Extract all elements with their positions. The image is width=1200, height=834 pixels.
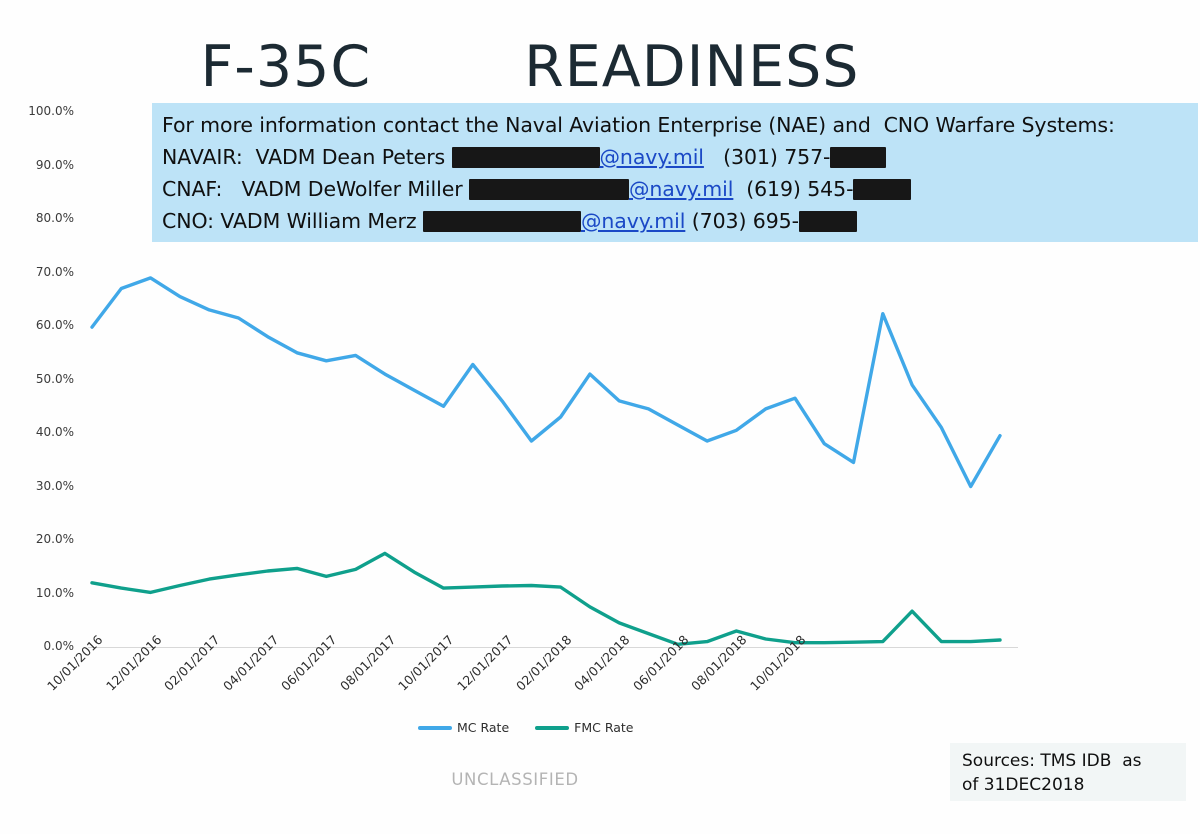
y-axis-tick-label: 0.0% bbox=[12, 639, 74, 653]
slide-canvas: F-35C READINESS For more information con… bbox=[0, 0, 1200, 834]
y-axis-tick-label: 70.0% bbox=[12, 265, 74, 279]
chart-legend: MC Rate FMC Rate bbox=[418, 720, 634, 735]
x-axis-tick-label: 04/01/2018 bbox=[571, 632, 633, 694]
y-axis-tick-label: 80.0% bbox=[12, 211, 74, 225]
x-axis-tick-label: 06/01/2018 bbox=[630, 632, 692, 694]
x-axis-tick-label: 02/01/2018 bbox=[513, 632, 575, 694]
x-axis-tick-label: 10/01/2017 bbox=[395, 632, 457, 694]
legend-label-mc-rate: MC Rate bbox=[457, 720, 509, 735]
y-axis-tick-label: 30.0% bbox=[12, 479, 74, 493]
y-axis-tick-label: 50.0% bbox=[12, 372, 74, 386]
sources-box: Sources: TMS IDB as of 31DEC2018 bbox=[950, 743, 1186, 801]
legend-swatch-mc-rate bbox=[418, 726, 452, 730]
legend-swatch-fmc-rate bbox=[535, 726, 569, 730]
y-axis-tick-label: 10.0% bbox=[12, 586, 74, 600]
y-axis-tick-label: 90.0% bbox=[12, 158, 74, 172]
x-axis-tick-label: 12/01/2017 bbox=[454, 632, 516, 694]
classification-watermark: UNCLASSIFIED bbox=[0, 770, 1030, 789]
x-axis-tick-label: 04/01/2017 bbox=[220, 632, 282, 694]
legend-item-fmc-rate[interactable]: FMC Rate bbox=[535, 720, 633, 735]
y-axis-tick-label: 100.0% bbox=[12, 104, 74, 118]
x-axis-tick-label: 08/01/2018 bbox=[688, 632, 750, 694]
legend-label-fmc-rate: FMC Rate bbox=[574, 720, 633, 735]
y-axis-tick-label: 20.0% bbox=[12, 532, 74, 546]
x-axis-tick-label: 06/01/2017 bbox=[278, 632, 340, 694]
y-axis-tick-label: 60.0% bbox=[12, 318, 74, 332]
x-axis-tick-label: 12/01/2016 bbox=[103, 632, 165, 694]
series-line-mc-rate bbox=[92, 278, 1000, 487]
x-axis-tick-label: 02/01/2017 bbox=[161, 632, 223, 694]
readiness-line-chart: 100.0%90.0%80.0%70.0%60.0%50.0%40.0%30.0… bbox=[0, 0, 1200, 834]
x-axis-tick-label: 08/01/2017 bbox=[337, 632, 399, 694]
series-line-fmc-rate bbox=[92, 553, 1000, 644]
sources-line-1: Sources: TMS IDB as bbox=[962, 749, 1176, 773]
legend-item-mc-rate[interactable]: MC Rate bbox=[418, 720, 509, 735]
x-axis-tick-label: 10/01/2018 bbox=[747, 632, 809, 694]
chart-plot-area bbox=[0, 0, 1200, 834]
y-axis-tick-label: 40.0% bbox=[12, 425, 74, 439]
sources-line-2: of 31DEC2018 bbox=[962, 773, 1176, 797]
